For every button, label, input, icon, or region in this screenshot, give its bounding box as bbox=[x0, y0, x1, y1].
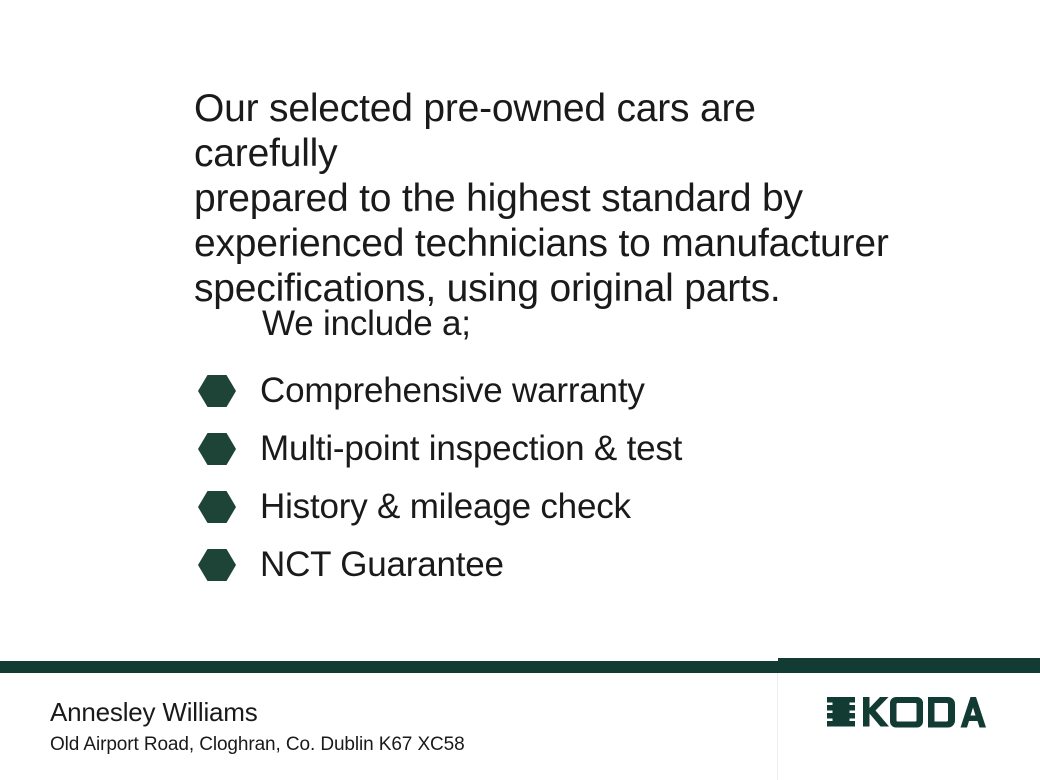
page-title: Our selected pre-owned cars are carefull… bbox=[194, 86, 894, 311]
list-item: NCT Guarantee bbox=[198, 536, 898, 594]
footer-rule-right bbox=[778, 658, 1040, 673]
list-item-label: Multi-point inspection & test bbox=[260, 429, 682, 469]
footer-rule-left bbox=[0, 661, 778, 673]
slide-canvas: Our selected pre-owned cars are carefull… bbox=[0, 0, 1040, 780]
list-item: History & mileage check bbox=[198, 478, 898, 536]
hexagon-bullet-icon bbox=[198, 432, 236, 466]
dealer-address: Old Airport Road, Cloghran, Co. Dublin K… bbox=[50, 733, 465, 757]
brand-name-text: SKODA bbox=[826, 728, 827, 729]
list-item: Multi-point inspection & test bbox=[198, 420, 898, 478]
hexagon-bullet-icon bbox=[198, 548, 236, 582]
list-item-label: History & mileage check bbox=[260, 487, 631, 527]
include-intro-text: We include a; bbox=[262, 303, 471, 345]
footer-vertical-divider bbox=[777, 673, 778, 780]
hexagon-bullet-icon bbox=[198, 490, 236, 524]
skoda-wordmark-logo: SKODA bbox=[826, 696, 986, 728]
hexagon-bullet-icon bbox=[198, 374, 236, 408]
list-item-label: NCT Guarantee bbox=[260, 545, 504, 585]
benefits-list: Comprehensive warranty Multi-point inspe… bbox=[198, 362, 898, 594]
dealer-name: Annesley Williams bbox=[50, 696, 258, 728]
list-item: Comprehensive warranty bbox=[198, 362, 898, 420]
list-item-label: Comprehensive warranty bbox=[260, 371, 645, 411]
